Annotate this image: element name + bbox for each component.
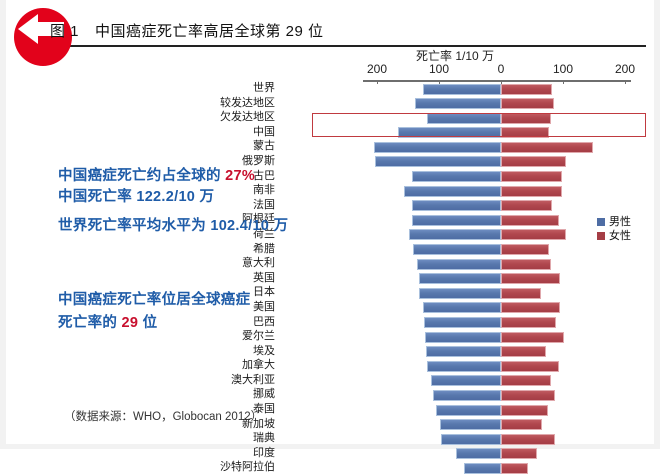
bar-female <box>501 332 564 343</box>
figure-page: 图 1中国癌症死亡率高居全球第 29 位 死亡率 1/10 万 20010001… <box>0 0 660 449</box>
bar-male <box>419 273 501 284</box>
chart-legend: 男性 女性 <box>597 215 631 243</box>
chart-row-label: 南非 <box>253 183 275 197</box>
bar-male <box>417 259 501 270</box>
chart-row: 爱尔兰 <box>6 330 654 345</box>
chart-row: 较发达地区 <box>6 97 654 112</box>
bar-male <box>374 142 501 153</box>
legend-label-male: 男性 <box>609 215 631 229</box>
bar-male <box>427 113 501 124</box>
bar-female <box>501 127 549 138</box>
annotation-line-5: 死亡率的 29 位 <box>58 311 157 332</box>
bar-male <box>441 434 501 445</box>
chart-row-label: 美国 <box>253 300 275 314</box>
chart-row: 意大利 <box>6 257 654 272</box>
legend-label-female: 女性 <box>609 229 631 243</box>
bar-male <box>426 346 501 357</box>
chart-row: 埃及 <box>6 345 654 360</box>
bar-female <box>501 186 562 197</box>
bar-female <box>501 405 548 416</box>
chart-row: 中国 <box>6 126 654 141</box>
annotation-line-3: 世界死亡率平均水平为 102.4/10 万 <box>58 214 288 235</box>
frame-right-border <box>654 0 660 449</box>
bar-female <box>501 463 528 474</box>
bar-male <box>412 215 501 226</box>
annotation-5-prefix: 死亡率的 <box>58 315 122 331</box>
chart-row: 沙特阿拉伯 <box>6 461 654 476</box>
title-underline <box>50 45 646 47</box>
bar-female <box>501 448 537 459</box>
bar-male <box>415 98 501 109</box>
bar-female <box>501 273 560 284</box>
axis-tick-mark <box>625 80 626 84</box>
annotation-line-2: 中国死亡率 122.2/10 万 <box>58 185 214 206</box>
bar-female <box>501 317 556 328</box>
chart-plot-area: 世界较发达地区欠发达地区中国蒙古俄罗斯古巴南非法国阿根廷荷兰希腊意大利英国日本美… <box>6 82 654 432</box>
chart-row-label: 日本 <box>253 285 275 299</box>
bar-female <box>501 171 562 182</box>
chart-row: 加拿大 <box>6 359 654 374</box>
chart-row-label: 较发达地区 <box>220 96 275 110</box>
bar-female <box>501 390 555 401</box>
chart-row: 瑞典 <box>6 432 654 447</box>
bar-female <box>501 229 566 240</box>
bar-female <box>501 288 541 299</box>
axis-tick-label: 200 <box>615 62 635 76</box>
figure-title-text: 中国癌症死亡率高居全球第 29 位 <box>95 23 324 40</box>
axis-tick-labels: 2001000100200 <box>336 62 646 76</box>
bar-female <box>501 419 542 430</box>
bar-male <box>412 200 501 211</box>
bar-male <box>419 288 501 299</box>
chart-row-label: 蒙古 <box>253 139 275 153</box>
bar-male <box>423 84 501 95</box>
bar-female <box>501 346 546 357</box>
bar-female <box>501 434 555 445</box>
legend-item-female: 女性 <box>597 229 631 243</box>
legend-swatch-female-icon <box>597 232 605 240</box>
chart-row: 欠发达地区 <box>6 111 654 126</box>
chart-row: 澳大利亚 <box>6 374 654 389</box>
bar-female <box>501 200 552 211</box>
chart-row: 挪威 <box>6 388 654 403</box>
bar-female <box>501 361 559 372</box>
axis-tick-mark <box>377 80 378 84</box>
figure-number: 图 1 <box>50 23 79 40</box>
annotation-line-4: 中国癌症死亡率位居全球癌症 <box>58 288 250 309</box>
annotation-line-1: 中国癌症死亡约占全球的 27% <box>58 164 255 185</box>
annotation-1-highlight: 27% <box>225 168 255 184</box>
bar-female <box>501 244 549 255</box>
chart-row-label: 埃及 <box>253 344 275 358</box>
bar-female <box>501 215 559 226</box>
page-title: 图 1中国癌症死亡率高居全球第 29 位 <box>50 20 640 41</box>
legend-item-male: 男性 <box>597 215 631 229</box>
chart-row-label: 印度 <box>253 446 275 460</box>
chart-row-label: 中国 <box>253 125 275 139</box>
bar-female <box>501 375 551 386</box>
chart-row: 希腊 <box>6 243 654 258</box>
bar-male <box>436 405 501 416</box>
legend-swatch-male-icon <box>597 218 605 226</box>
figure-inner-canvas: 图 1中国癌症死亡率高居全球第 29 位 死亡率 1/10 万 20010001… <box>6 0 654 444</box>
bar-male <box>424 317 502 328</box>
bar-female <box>501 142 593 153</box>
chart-row: 印度 <box>6 447 654 462</box>
chart-row-label: 爱尔兰 <box>242 329 275 343</box>
chart-row-label: 挪威 <box>253 387 275 401</box>
chart-row-label: 英国 <box>253 271 275 285</box>
bar-male <box>423 302 501 313</box>
chart-row-label: 希腊 <box>253 242 275 256</box>
bar-male <box>398 127 501 138</box>
chart-row: 英国 <box>6 272 654 287</box>
chart-row-label: 古巴 <box>253 169 275 183</box>
bar-male <box>440 419 501 430</box>
chart-row-label: 澳大利亚 <box>231 373 275 387</box>
bar-female <box>501 156 566 167</box>
axis-tick-label: 0 <box>498 62 505 76</box>
chart-row-label: 瑞典 <box>253 431 275 445</box>
annotation-5-suffix: 位 <box>138 315 157 331</box>
chart-row-label: 世界 <box>253 81 275 95</box>
chart-row-label: 欠发达地区 <box>220 110 275 124</box>
axis-tick-label: 100 <box>429 62 449 76</box>
bar-male <box>464 463 501 474</box>
bar-male <box>433 390 501 401</box>
annotation-5-highlight: 29 <box>122 315 139 331</box>
axis-tick-mark <box>563 80 564 84</box>
bar-male <box>425 332 501 343</box>
axis-tick-mark <box>501 80 502 84</box>
chart-row: 世界 <box>6 82 654 97</box>
chart-row-label: 法国 <box>253 198 275 212</box>
bar-female <box>501 84 552 95</box>
chart-row-label: 巴西 <box>253 315 275 329</box>
bar-female <box>501 98 554 109</box>
annotation-1-text: 中国癌症死亡约占全球的 <box>58 168 225 184</box>
chart-row-label: 意大利 <box>242 256 275 270</box>
chart-row: 蒙古 <box>6 140 654 155</box>
axis-tick-label: 200 <box>367 62 387 76</box>
chart-row-label: 沙特阿拉伯 <box>220 460 275 474</box>
bar-female <box>501 302 560 313</box>
bar-female <box>501 259 551 270</box>
bar-male <box>431 375 501 386</box>
bar-male <box>413 244 501 255</box>
bar-male <box>412 171 501 182</box>
chart-row-label: 加拿大 <box>242 358 275 372</box>
bar-male <box>404 186 501 197</box>
bar-female <box>501 113 551 124</box>
bar-male <box>427 361 501 372</box>
axis-tick-mark <box>439 80 440 84</box>
bar-male <box>375 156 501 167</box>
data-source-note: （数据来源：WHO，Globocan 2012） <box>64 408 262 424</box>
bar-male <box>456 448 501 459</box>
left-arrow-icon <box>18 14 38 44</box>
bar-male <box>409 229 501 240</box>
axis-tick-label: 100 <box>553 62 573 76</box>
